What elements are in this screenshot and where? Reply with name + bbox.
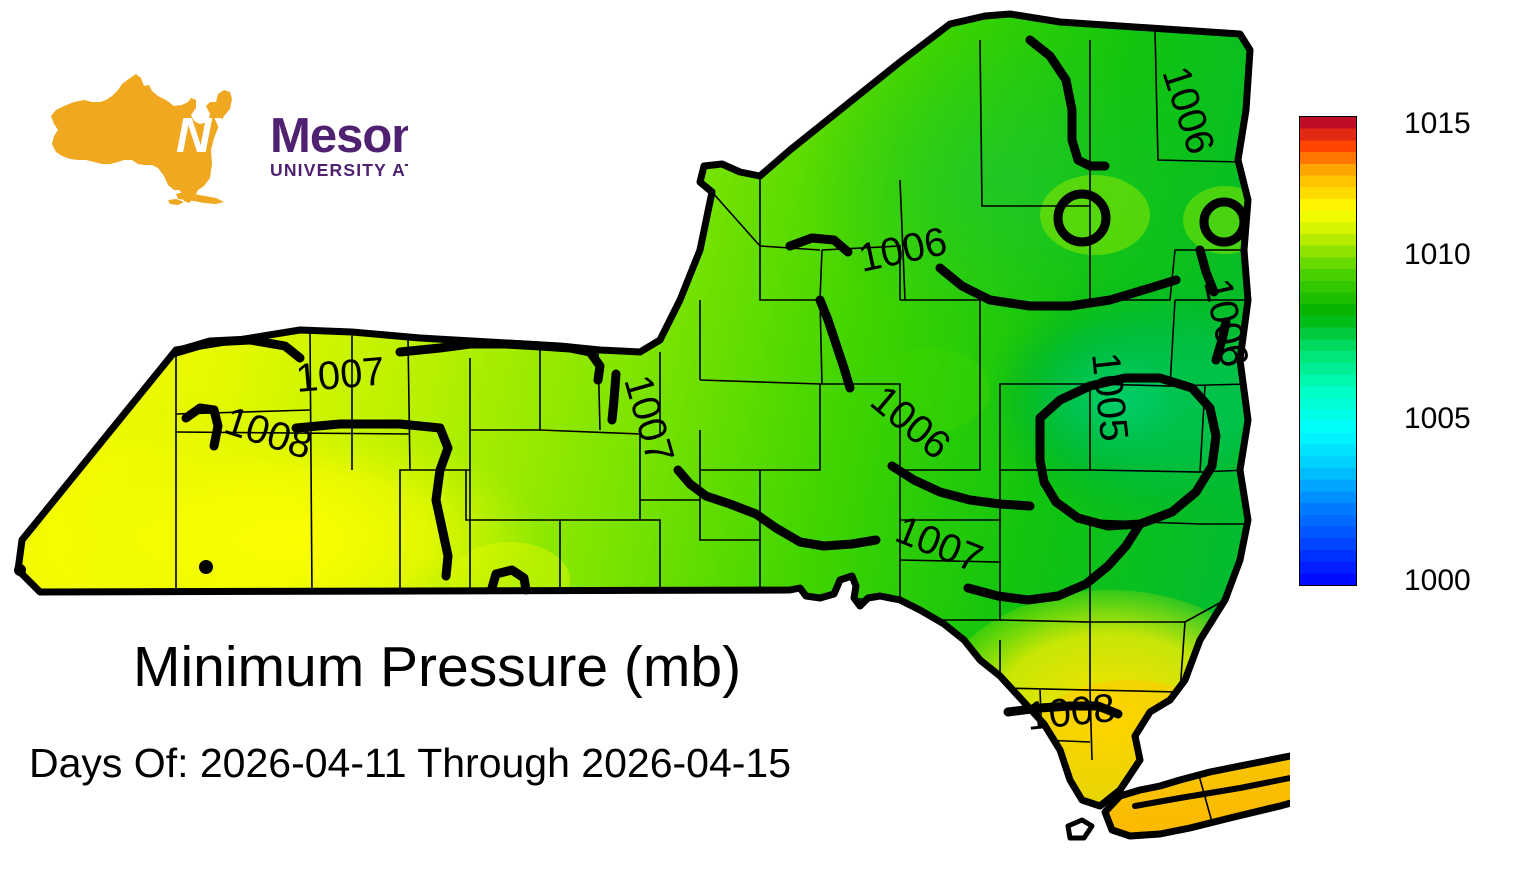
colorbar-label-1015: 1015	[1404, 109, 1471, 139]
date-range-subtitle: Days Of: 2026-04-11 Through 2026-04-15	[29, 740, 791, 786]
colorbar	[1299, 116, 1357, 586]
contour-label-1007-nw: 1007	[294, 349, 386, 401]
colorbar-label-1005: 1005	[1404, 404, 1471, 434]
colorbar-label-1000: 1000	[1404, 566, 1471, 596]
contour-label-1008-hudson: 1008	[1024, 686, 1117, 739]
contour-label-1005-low: 1005	[1083, 350, 1136, 443]
colorbar-gradient	[1300, 117, 1356, 585]
page-title: Minimum Pressure (mb)	[133, 636, 741, 698]
contour-1007-central-a	[612, 374, 616, 420]
map-figure: NYS Mesonet UNIVERSITY AT ALBANY	[0, 0, 1536, 876]
colorbar-label-1010: 1010	[1404, 240, 1471, 270]
